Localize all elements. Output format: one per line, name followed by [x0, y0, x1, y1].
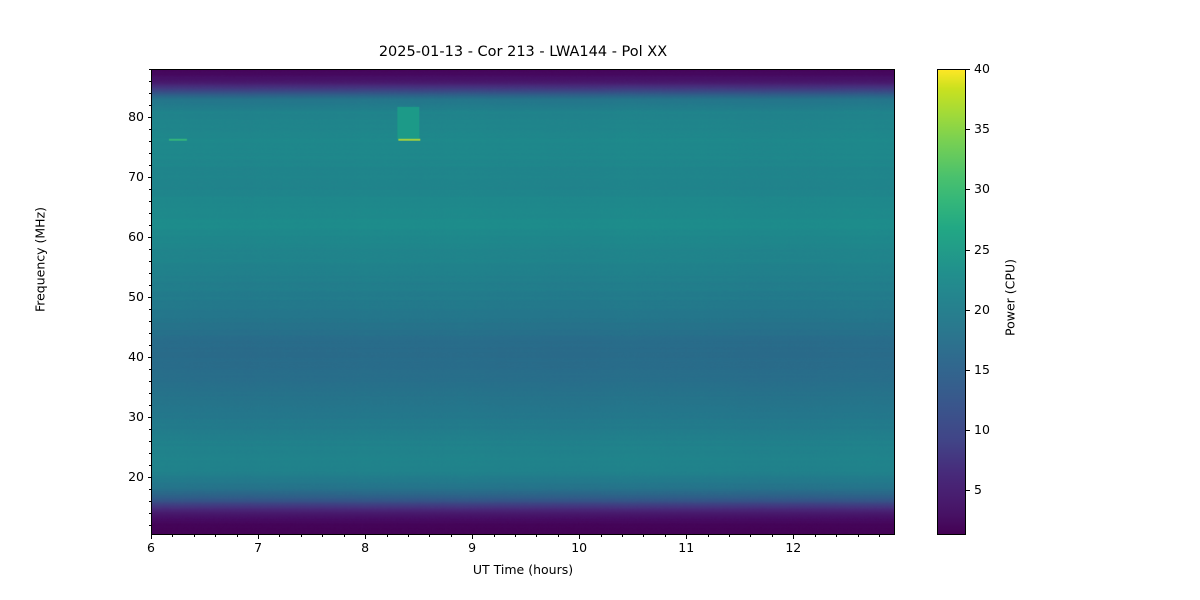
colorbar-tick-label: 30	[974, 181, 990, 196]
y-tick-minor	[149, 201, 151, 202]
x-tick-major	[365, 535, 366, 539]
y-tick-major	[148, 417, 152, 418]
y-tick-label: 20	[104, 469, 144, 484]
x-tick-minor	[237, 535, 238, 537]
spectrogram-axes[interactable]	[151, 69, 895, 535]
x-tick-minor	[858, 535, 859, 537]
x-tick-minor	[536, 535, 537, 537]
x-tick-label: 7	[238, 540, 278, 555]
y-tick-minor	[149, 465, 151, 466]
colorbar-tick	[966, 430, 970, 431]
y-tick-minor	[149, 261, 151, 262]
x-tick-minor	[215, 535, 216, 537]
y-tick-major	[148, 297, 152, 298]
x-tick-minor	[558, 535, 559, 537]
y-tick-minor	[149, 345, 151, 346]
colorbar-tick	[966, 490, 970, 491]
colorbar[interactable]	[937, 69, 966, 535]
x-tick-minor	[494, 535, 495, 537]
colorbar-tick-label: 25	[974, 242, 990, 257]
x-tick-minor	[301, 535, 302, 537]
colorbar-tick-label: 10	[974, 422, 990, 437]
y-tick-minor	[149, 285, 151, 286]
page-title: 2025-01-13 - Cor 213 - LWA144 - Pol XX	[151, 44, 895, 60]
spectrogram-image	[152, 70, 894, 534]
x-tick-minor	[279, 535, 280, 537]
y-tick-minor	[149, 153, 151, 154]
y-tick-minor	[149, 405, 151, 406]
colorbar-tick	[966, 310, 970, 311]
y-tick-minor	[149, 513, 151, 514]
x-tick-minor	[836, 535, 837, 537]
y-tick-label: 70	[104, 169, 144, 184]
colorbar-tick-label: 15	[974, 362, 990, 377]
x-tick-minor	[601, 535, 602, 537]
colorbar-tick	[966, 69, 970, 70]
y-tick-minor	[149, 81, 151, 82]
x-tick-minor	[344, 535, 345, 537]
x-tick-minor	[879, 535, 880, 537]
y-tick-minor	[149, 105, 151, 106]
figure-canvas: 2025-01-13 - Cor 213 - LWA144 - Pol XX 6…	[0, 0, 1200, 600]
colorbar-tick-label: 5	[974, 482, 982, 497]
x-tick-major	[686, 535, 687, 539]
y-tick-minor	[149, 489, 151, 490]
x-tick-label: 9	[452, 540, 492, 555]
y-tick-minor	[149, 429, 151, 430]
x-tick-minor	[729, 535, 730, 537]
x-tick-label: 6	[131, 540, 171, 555]
x-tick-major	[472, 535, 473, 539]
y-tick-minor	[149, 273, 151, 274]
x-tick-minor	[322, 535, 323, 537]
y-tick-major	[148, 237, 152, 238]
y-tick-minor	[149, 321, 151, 322]
y-tick-minor	[149, 453, 151, 454]
colorbar-gradient	[938, 70, 965, 534]
y-tick-label: 30	[104, 409, 144, 424]
y-tick-minor	[149, 393, 151, 394]
x-tick-minor	[194, 535, 195, 537]
x-tick-minor	[750, 535, 751, 537]
colorbar-tick-label: 40	[974, 61, 990, 76]
y-axis-label: Frequency (MHz)	[33, 120, 48, 400]
y-tick-minor	[149, 501, 151, 502]
x-tick-major	[258, 535, 259, 539]
y-tick-minor	[149, 249, 151, 250]
y-tick-minor	[149, 141, 151, 142]
x-tick-minor	[772, 535, 773, 537]
x-tick-minor	[429, 535, 430, 537]
x-axis-label: UT Time (hours)	[151, 562, 895, 577]
y-tick-minor	[149, 213, 151, 214]
x-tick-minor	[665, 535, 666, 537]
colorbar-tick	[966, 129, 970, 130]
x-tick-label: 10	[559, 540, 599, 555]
y-tick-major	[148, 117, 152, 118]
y-tick-label: 60	[104, 229, 144, 244]
y-tick-minor	[149, 165, 151, 166]
x-tick-minor	[622, 535, 623, 537]
y-tick-minor	[149, 225, 151, 226]
x-tick-minor	[708, 535, 709, 537]
x-tick-minor	[387, 535, 388, 537]
y-tick-label: 40	[104, 349, 144, 364]
y-tick-minor	[149, 129, 151, 130]
x-tick-label: 11	[666, 540, 706, 555]
x-tick-major	[579, 535, 580, 539]
y-tick-minor	[149, 93, 151, 94]
y-tick-minor	[149, 189, 151, 190]
x-tick-minor	[172, 535, 173, 537]
x-tick-minor	[815, 535, 816, 537]
y-tick-major	[148, 177, 152, 178]
x-tick-label: 12	[773, 540, 813, 555]
colorbar-tick-label: 35	[974, 121, 990, 136]
colorbar-tick	[966, 250, 970, 251]
y-tick-major	[148, 357, 152, 358]
y-tick-minor	[149, 441, 151, 442]
y-tick-label: 80	[104, 109, 144, 124]
colorbar-tick	[966, 370, 970, 371]
y-tick-minor	[149, 525, 151, 526]
y-tick-label: 50	[104, 289, 144, 304]
x-tick-minor	[408, 535, 409, 537]
y-tick-minor	[149, 381, 151, 382]
x-tick-major	[793, 535, 794, 539]
x-tick-label: 8	[345, 540, 385, 555]
x-tick-major	[151, 535, 152, 539]
x-tick-minor	[643, 535, 644, 537]
y-tick-minor	[149, 369, 151, 370]
y-tick-minor	[149, 309, 151, 310]
colorbar-label: Power (CPU)	[1003, 188, 1018, 408]
y-tick-major	[148, 477, 152, 478]
colorbar-tick	[966, 189, 970, 190]
y-tick-minor	[149, 333, 151, 334]
x-tick-minor	[451, 535, 452, 537]
y-tick-minor	[149, 69, 151, 70]
x-tick-minor	[515, 535, 516, 537]
colorbar-tick-label: 20	[974, 302, 990, 317]
